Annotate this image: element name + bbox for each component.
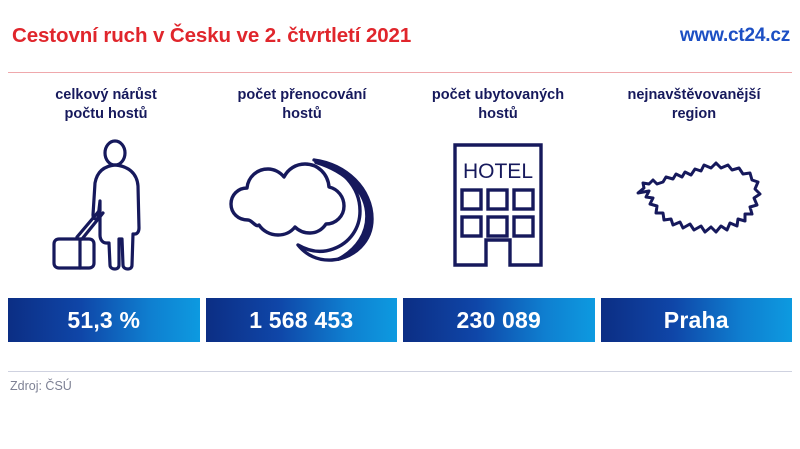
- value-bar-overnight-stays: 1 568 453: [206, 298, 398, 342]
- value-bar-most-visited-region: Praha: [601, 298, 793, 342]
- header-divider: [8, 72, 792, 73]
- infographic-canvas: Cestovní ruch v Česku ve 2. čtvrtletí 20…: [0, 0, 800, 449]
- value-bars: 51,3 % 1 568 453 230 089 Praha: [8, 298, 792, 342]
- stat-column-overnight-stays: počet přenocování hostů: [204, 86, 400, 286]
- value-text: Praha: [664, 307, 729, 334]
- hotel-building-icon: HOTEL: [400, 123, 596, 286]
- value-bar-accommodated-guests: 230 089: [403, 298, 595, 342]
- stat-column-accommodated-guests: počet ubytovaných hostů HOTEL: [400, 86, 596, 286]
- column-heading: nejnavštěvovanější region: [622, 86, 767, 123]
- value-text: 230 089: [456, 307, 541, 334]
- column-heading: počet přenocování hostů: [232, 86, 373, 123]
- column-heading: celkový nárůst počtu hostů: [49, 86, 163, 123]
- source-label: Zdroj: ČSÚ: [10, 379, 72, 393]
- region-map-outline-icon: [596, 123, 792, 286]
- site-link[interactable]: www.ct24.cz: [680, 25, 790, 47]
- header: Cestovní ruch v Česku ve 2. čtvrtletí 20…: [0, 0, 800, 72]
- cloud-with-crescent-moon-icon: [204, 123, 400, 286]
- stat-column-total-growth: celkový nárůst počtu hostů: [8, 86, 204, 286]
- hotel-sign-text: HOTEL: [463, 160, 533, 183]
- footer-divider: [8, 371, 792, 372]
- value-text: 1 568 453: [249, 307, 353, 334]
- stat-column-most-visited-region: nejnavštěvovanější region: [596, 86, 792, 286]
- value-bar-total-growth: 51,3 %: [8, 298, 200, 342]
- column-heading: počet ubytovaných hostů: [426, 86, 570, 123]
- page-title: Cestovní ruch v Česku ve 2. čtvrtletí 20…: [12, 24, 411, 48]
- traveler-with-suitcase-icon: [8, 123, 204, 286]
- value-text: 51,3 %: [67, 307, 140, 334]
- stat-columns: celkový nárůst počtu hostů: [8, 86, 792, 286]
